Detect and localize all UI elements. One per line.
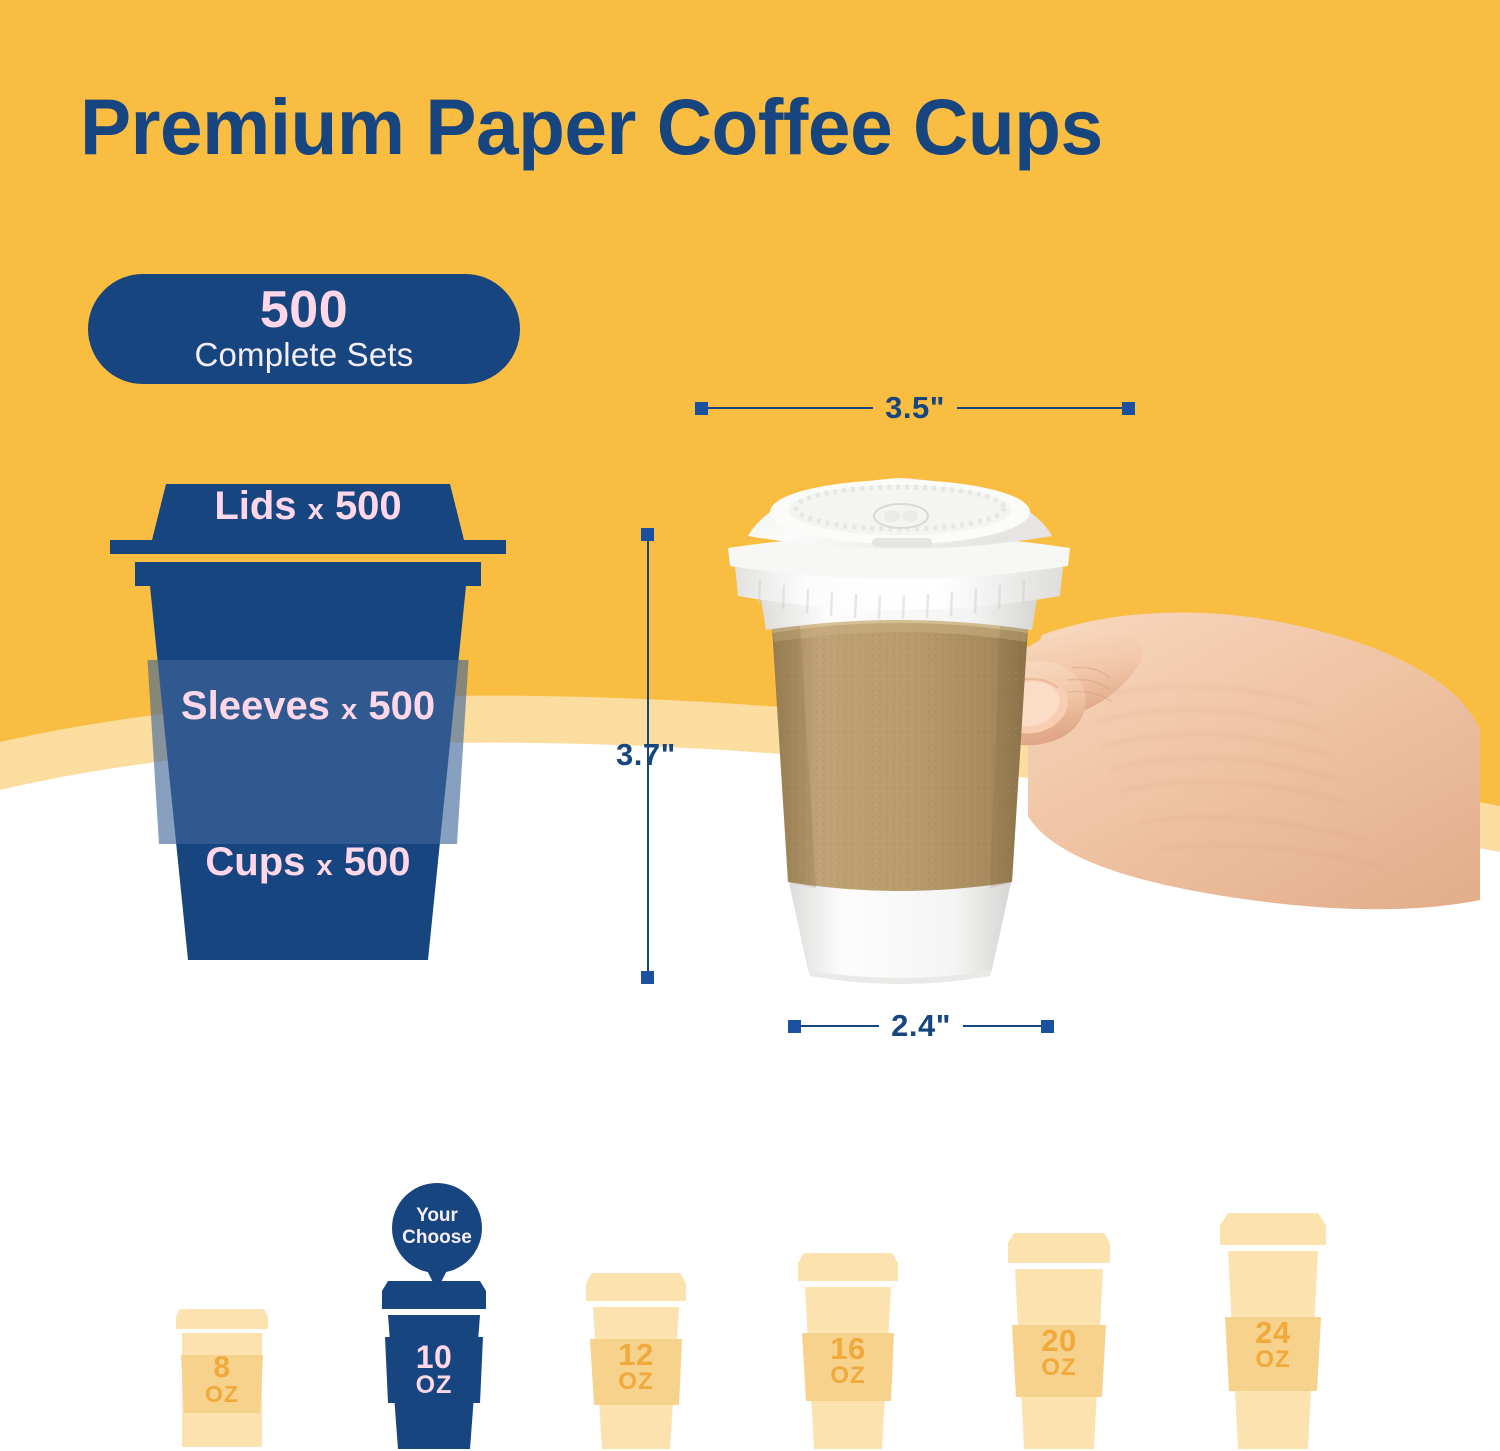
dimension-bottom-width-label: 2.4" [879,1008,963,1044]
dimension-cap-top [641,528,654,541]
page-title: Premium Paper Coffee Cups [80,86,1419,169]
size-option-8oz[interactable]: 8 OZ [168,1291,276,1451]
badge-count: 500 [260,285,348,336]
cups-label: Cups x 500 [110,840,506,885]
dimension-cap-right [1122,402,1135,415]
dimension-top-width: 3.5" [695,390,1135,426]
size-option-10oz[interactable]: 10 OZ [374,1275,494,1451]
dimension-cap-right [1041,1020,1054,1033]
complete-sets-badge: 500 Complete Sets [88,274,520,384]
dimension-cap-left [695,402,708,415]
dimension-cap-left [788,1020,801,1033]
component-breakdown-cup: Lids x 500 Sleeves x 500 Cups x 500 [110,462,506,962]
dimension-top-width-label: 3.5" [873,390,957,426]
size-option-12oz[interactable]: 12 OZ [578,1265,694,1451]
badge-label: Complete Sets [194,338,413,373]
size-selector-row: 8 OZ 10 OZ 12 OZ [0,1160,1500,1451]
size-option-24oz[interactable]: 24 OZ [1212,1205,1334,1451]
product-photo-cup-in-hand [640,430,1480,1000]
infographic-canvas: Premium Paper Coffee Cups 500 Complete S… [0,0,1500,1451]
cup-base [788,878,1012,978]
dimension-cap-bottom [641,971,654,984]
cup-rim [135,562,481,586]
kraft-sleeve [772,616,1028,891]
size-option-20oz[interactable]: 20 OZ [1000,1225,1118,1451]
lids-label: Lids x 500 [110,484,506,529]
hand [979,612,1480,909]
sleeves-label: Sleeves x 500 [110,684,506,729]
dimension-height-label: 3.7" [612,735,680,775]
dimension-bottom-width: 2.4" [788,1008,1054,1044]
size-option-16oz[interactable]: 16 OZ [790,1245,906,1451]
cup-lid [728,478,1070,619]
